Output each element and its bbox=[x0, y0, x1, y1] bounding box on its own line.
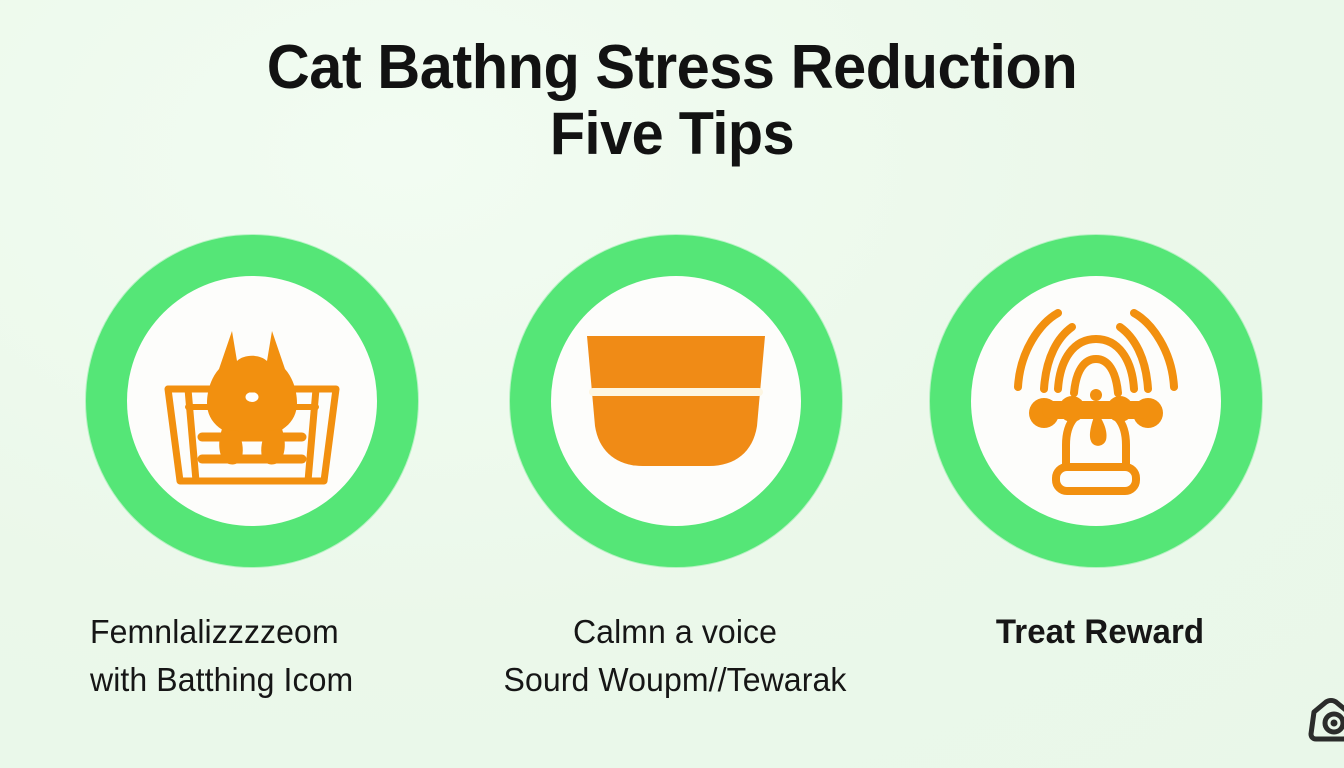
caption-2: Calmn a voice Sourd Woupm//Tewarak bbox=[466, 608, 883, 704]
water-basin-icon bbox=[581, 330, 771, 472]
page-title: Cat Bathng Stress Reduction Five Tips bbox=[0, 34, 1344, 166]
caption-2-line-1: Calmn a voice bbox=[466, 608, 883, 656]
caption-3: Treat Reward bbox=[935, 608, 1265, 656]
icon-card-row bbox=[0, 235, 1344, 575]
caption-1: Femnlalizzzzeom with Batthing Icom bbox=[90, 608, 353, 704]
cat-in-bathtub-icon bbox=[154, 311, 350, 491]
icon-card-2[interactable] bbox=[510, 235, 842, 567]
infographic-canvas: Cat Bathng Stress Reduction Five Tips bbox=[0, 0, 1344, 768]
ring-inner-2 bbox=[551, 276, 801, 526]
title-line-1: Cat Bathng Stress Reduction bbox=[27, 34, 1317, 102]
caption-3-line-1: Treat Reward bbox=[935, 608, 1265, 656]
icon-card-1[interactable] bbox=[86, 235, 418, 567]
ring-inner-1 bbox=[127, 276, 377, 526]
ring-inner-3 bbox=[971, 276, 1221, 526]
green-ring-2 bbox=[510, 235, 842, 567]
caption-1-line-2: with Batthing Icom bbox=[90, 656, 353, 704]
title-line-2: Five Tips bbox=[27, 102, 1317, 166]
caption-row: Femnlalizzzzeom with Batthing Icom Calmn… bbox=[0, 608, 1344, 728]
icon-card-3[interactable] bbox=[930, 235, 1262, 567]
camera-watermark-icon bbox=[1304, 698, 1344, 742]
caption-2-line-2: Sourd Woupm//Tewarak bbox=[466, 656, 883, 704]
bell-sound-waves-icon bbox=[996, 301, 1196, 501]
caption-1-line-1: Femnlalizzzzeom bbox=[90, 608, 353, 656]
green-ring-3 bbox=[930, 235, 1262, 567]
green-ring-1 bbox=[86, 235, 418, 567]
